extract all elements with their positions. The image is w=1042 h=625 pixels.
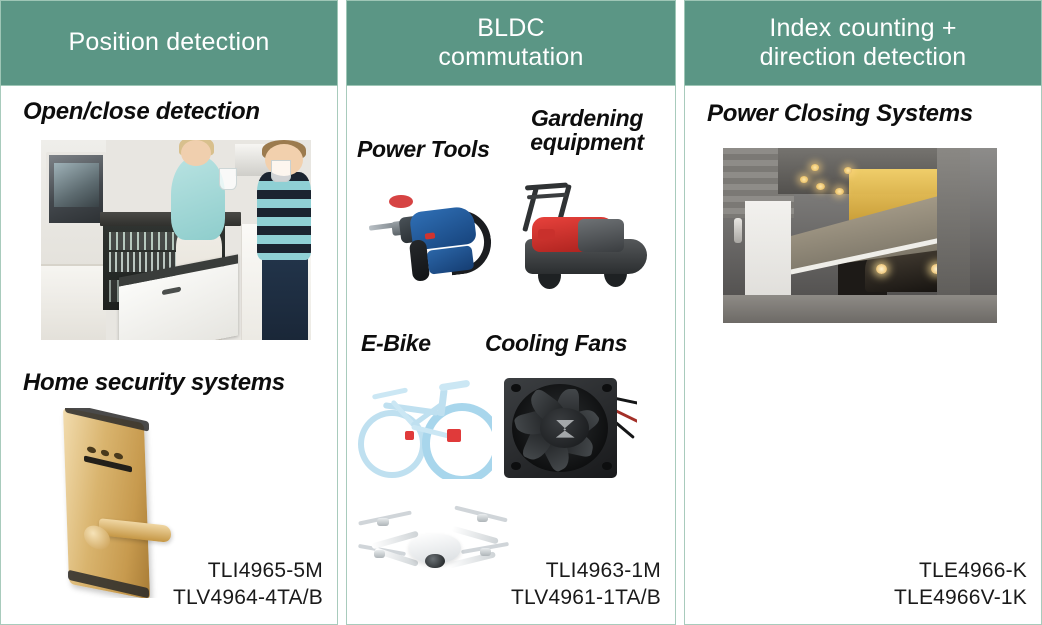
label-power-closing-systems: Power Closing Systems — [707, 100, 973, 128]
quadcopter-drone-photo — [355, 496, 515, 586]
label-home-security-systems: Home security systems — [23, 369, 285, 397]
label-gardening-equipment: Gardening equipment — [507, 106, 667, 154]
column-bldc-commutation: BLDC commutation Power Tools Gardening e… — [346, 0, 676, 625]
column-2-header: BLDC commutation — [346, 0, 676, 86]
column-position-detection: Position detection Open/close detection — [0, 0, 338, 625]
column-2-body: Power Tools Gardening equipment — [346, 86, 676, 625]
column-index-counting: Index counting + direction detection Pow… — [684, 0, 1042, 625]
column-3-header: Index counting + direction detection — [684, 0, 1042, 86]
label-open-close-detection: Open/close detection — [23, 98, 260, 126]
column-1-body: Open/close detection — [0, 86, 338, 625]
electronic-door-lock-photo — [39, 408, 189, 598]
column-2-header-line2: commutation — [438, 43, 583, 71]
label-power-tools: Power Tools — [357, 136, 490, 163]
product-application-overview: Position detection Open/close detection — [0, 0, 1042, 625]
label-cooling-fans: Cooling Fans — [485, 330, 627, 357]
part-numbers-column-2: TLI4963-1M TLV4961-1TA/B — [511, 557, 661, 612]
column-3-header-line1: Index counting + — [769, 14, 956, 42]
column-3-body: Power Closing Systems — [684, 86, 1042, 625]
part-number: TLI4963-1M — [511, 557, 661, 585]
column-1-header: Position detection — [0, 0, 338, 86]
part-number: TLE4966V-1K — [894, 584, 1027, 612]
part-numbers-column-1: TLI4965-5M TLV4964-4TA/B — [173, 557, 323, 612]
part-number: TLV4964-4TA/B — [173, 584, 323, 612]
cooling-fan-photo — [492, 368, 637, 488]
part-number: TLI4965-5M — [173, 557, 323, 585]
part-numbers-column-3: TLE4966-K TLE4966V-1K — [894, 557, 1027, 612]
column-2-header-line1: BLDC — [477, 14, 545, 42]
part-number: TLV4961-1TA/B — [511, 584, 661, 612]
column-3-header-line2: direction detection — [760, 43, 967, 71]
rotary-hammer-drill-photo — [361, 178, 501, 298]
kitchen-dishwasher-photo — [41, 140, 311, 340]
label-e-bike: E-Bike — [361, 330, 431, 357]
part-number: TLE4966-K — [894, 557, 1027, 585]
electric-bicycle-photo — [352, 374, 492, 479]
lawn-mower-photo — [502, 174, 667, 299]
garage-door-photo — [723, 148, 997, 323]
